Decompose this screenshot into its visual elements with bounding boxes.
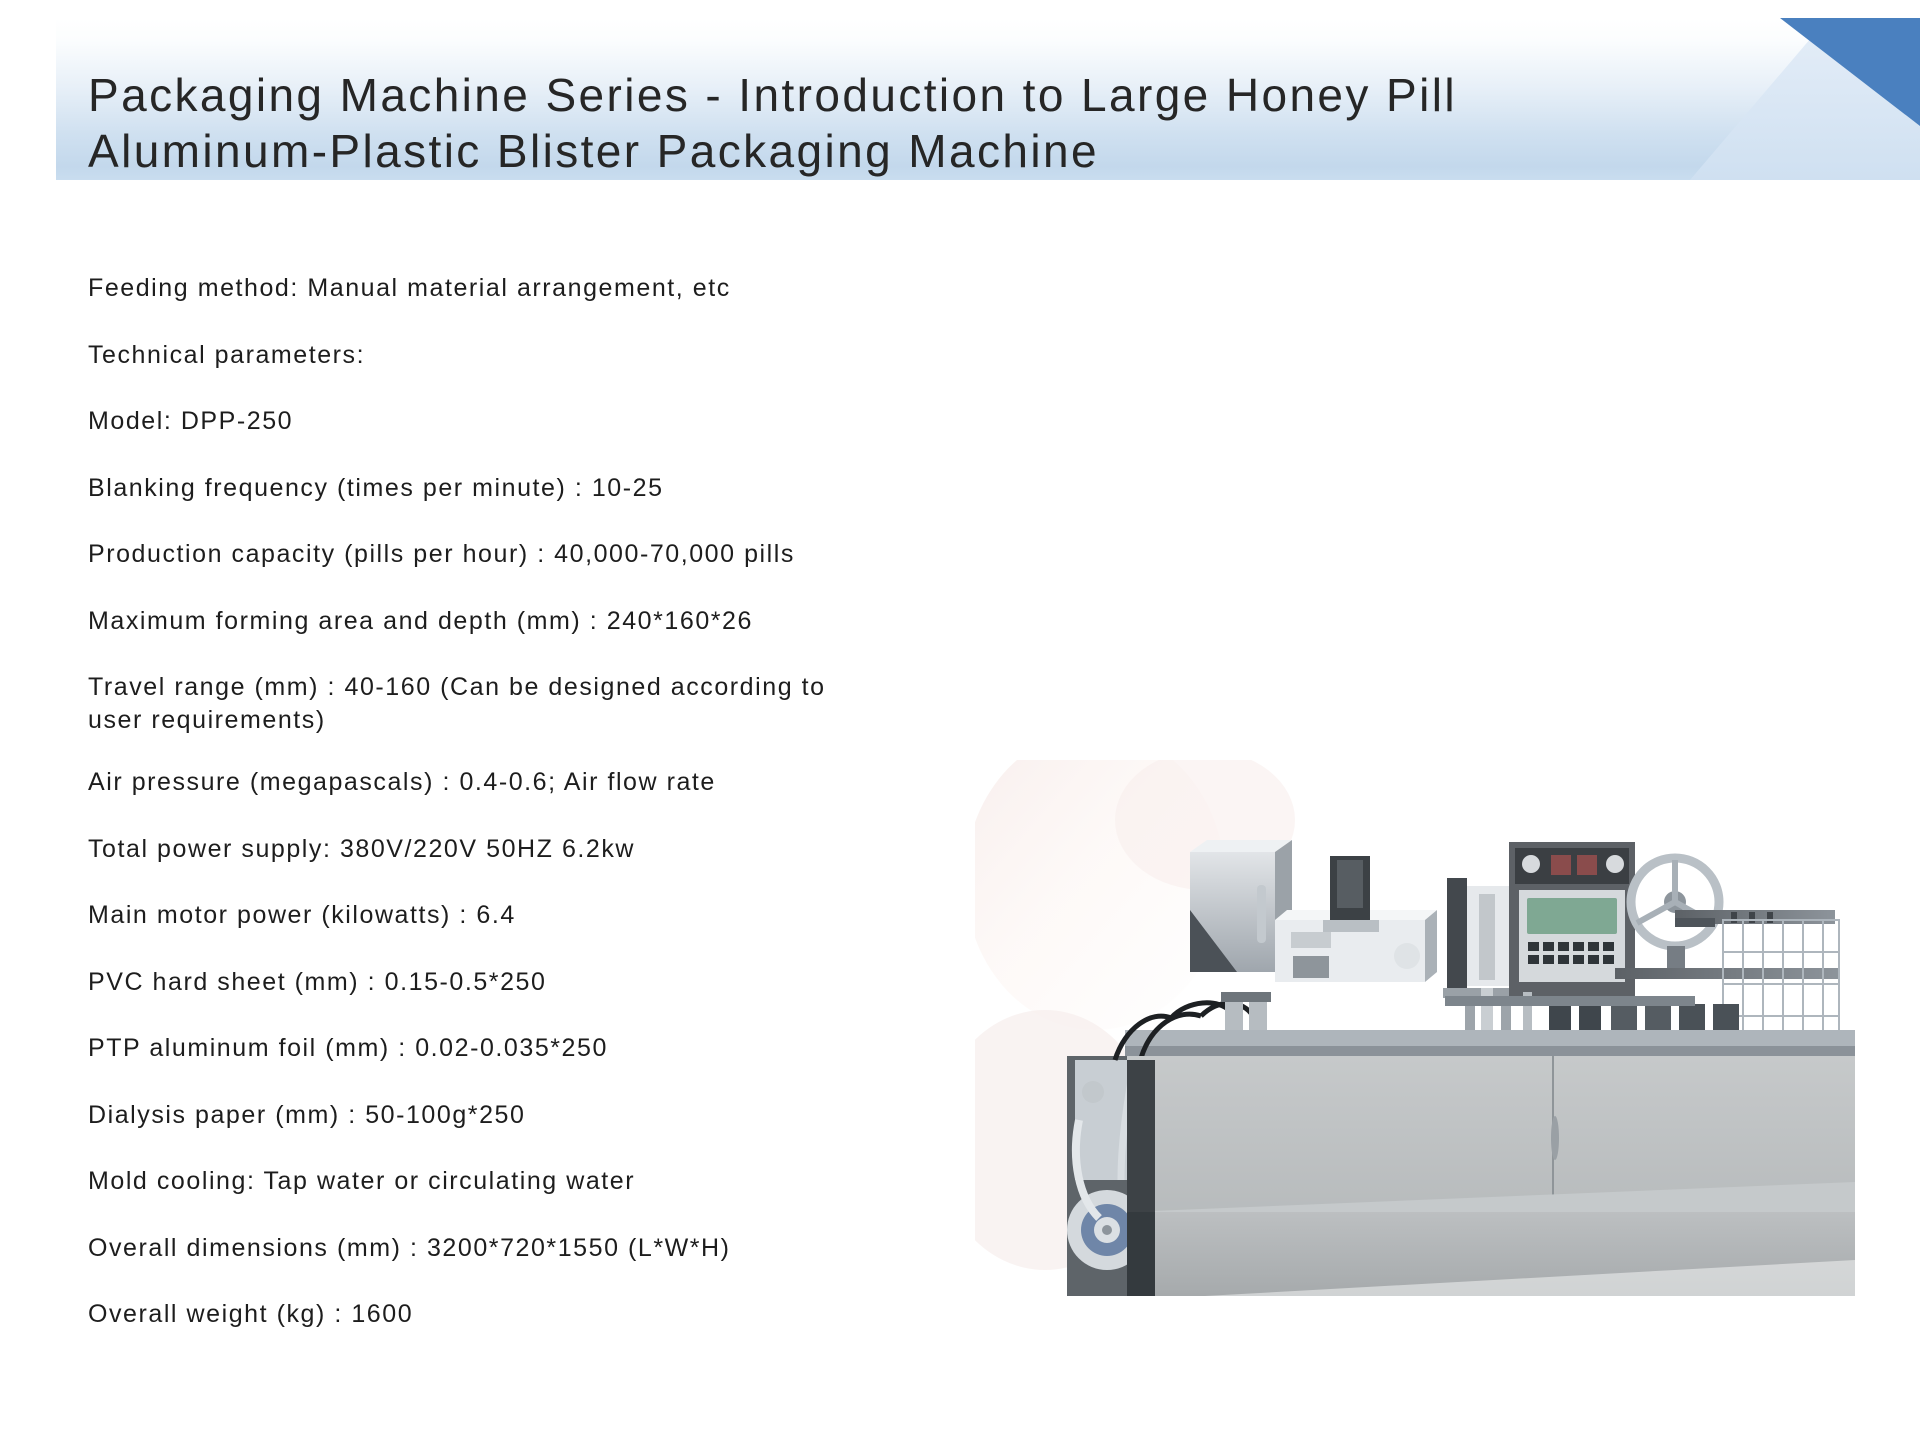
spec-item-feeding-method: Feeding method: Manual material arrangem…	[88, 272, 1068, 305]
machine-bracket	[1443, 878, 1513, 998]
machine-photo	[975, 760, 1855, 1300]
spec-item-mold-cooling: Mold cooling: Tap water or circulating w…	[88, 1165, 1068, 1198]
spec-item-overall-weight: Overall weight (kg) : 1600	[88, 1298, 1068, 1331]
spec-item-technical-parameters-heading: Technical parameters:	[88, 339, 1068, 372]
spec-item-production-capacity: Production capacity (pills per hour) : 4…	[88, 538, 1068, 571]
specification-list: Feeding method: Manual material arrangem…	[88, 272, 1068, 1365]
spec-item-total-power-supply: Total power supply: 380V/220V 50HZ 6.2kw	[88, 833, 1068, 866]
spec-item-overall-dimensions: Overall dimensions (mm) : 3200*720*1550 …	[88, 1232, 1068, 1265]
spec-item-dialysis-paper: Dialysis paper (mm) : 50-100g*250	[88, 1099, 1068, 1132]
page-title: Packaging Machine Series - Introduction …	[88, 67, 1788, 179]
spec-item-pvc-hard-sheet: PVC hard sheet (mm) : 0.15-0.5*250	[88, 966, 1068, 999]
spec-item-ptp-aluminum-foil: PTP aluminum foil (mm) : 0.02-0.035*250	[88, 1032, 1068, 1065]
spec-item-maximum-forming-area: Maximum forming area and depth (mm) : 24…	[88, 605, 1068, 638]
slide-canvas: Packaging Machine Series - Introduction …	[0, 0, 1920, 1440]
spec-item-travel-range: Travel range (mm) : 40-160 (Can be desig…	[88, 671, 1068, 736]
spec-item-model: Model: DPP-250	[88, 405, 1068, 438]
spec-item-main-motor-power: Main motor power (kilowatts) : 6.4	[88, 899, 1068, 932]
spec-item-blanking-frequency: Blanking frequency (times per minute) : …	[88, 472, 1068, 505]
spec-item-air-pressure: Air pressure (megapascals) : 0.4-0.6; Ai…	[88, 766, 1068, 799]
machine-cabinet	[1127, 1056, 1855, 1296]
